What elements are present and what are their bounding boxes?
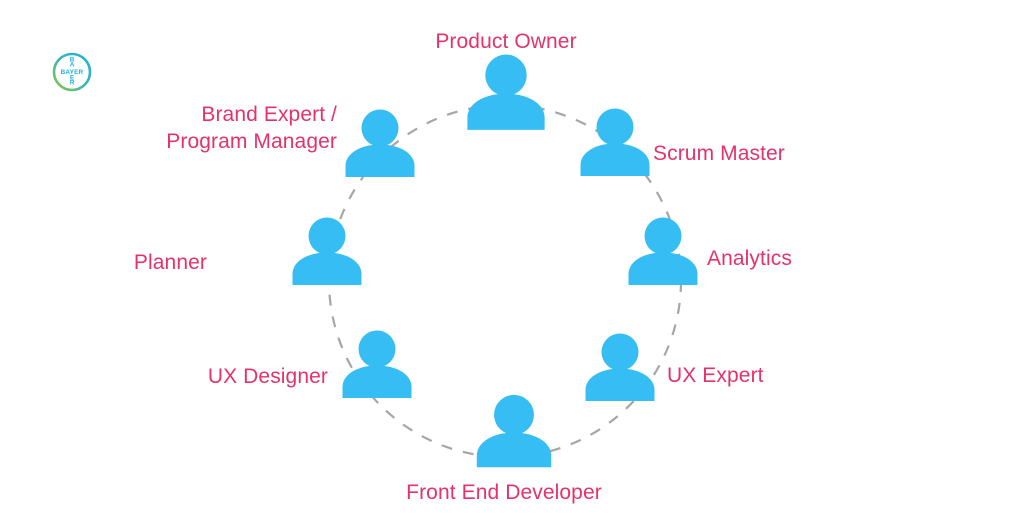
person-icon-product-owner <box>466 54 547 130</box>
role-label-scrum-master: Scrum Master <box>653 140 785 167</box>
role-label-brand-expert-program-manager: Brand Expert / Program Manager <box>166 101 337 155</box>
person-icon-brand-expert-program-manager <box>344 109 416 177</box>
person-icon-analytics <box>627 217 699 285</box>
bayer-logo: BAYER B A E R <box>52 52 92 92</box>
role-label-planner: Planner <box>134 249 207 276</box>
role-label-ux-designer: UX Designer <box>208 363 328 390</box>
person-icon-ux-expert <box>584 333 656 401</box>
role-label-front-end-developer: Front End Developer <box>0 479 1016 506</box>
diagram-canvas: BAYER B A E R Product OwnerScrum MasterA… <box>0 0 1024 529</box>
role-label-analytics: Analytics <box>707 245 792 272</box>
role-label-product-owner: Product Owner <box>0 28 1018 55</box>
svg-text:R: R <box>70 79 75 86</box>
person-icon-front-end-developer <box>475 394 553 467</box>
role-label-ux-expert: UX Expert <box>667 362 764 389</box>
person-icon-ux-designer <box>341 330 413 398</box>
svg-text:A: A <box>70 61 75 68</box>
person-icon-scrum-master <box>579 108 651 176</box>
person-icon-planner <box>291 217 363 285</box>
